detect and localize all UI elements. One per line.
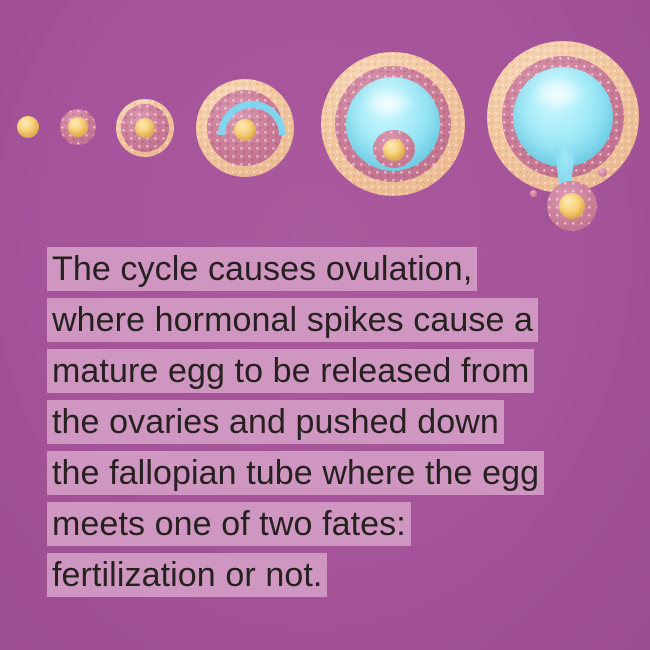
oocyte-icon: [383, 139, 405, 161]
caption-line: where hormonal spikes cause a: [47, 298, 617, 342]
caption-line-text: mature egg to be released from: [47, 349, 534, 393]
oocyte-icon: [68, 117, 88, 137]
caption-line: the ovaries and pushed down: [47, 400, 617, 444]
caption-line-text: where hormonal spikes cause a: [47, 298, 538, 342]
oocyte-icon: [17, 116, 39, 138]
follicle-stage-early-antral: [196, 79, 294, 177]
caption-line: the fallopian tube where the egg: [47, 451, 617, 495]
oocyte-icon: [135, 118, 155, 138]
granulosa-speck: [530, 190, 537, 197]
caption-line: meets one of two fates:: [47, 502, 617, 546]
follicle-stage-mature-graafian: [321, 52, 465, 196]
caption-line-text: meets one of two fates:: [47, 502, 411, 546]
follicle-stage-primordial: [17, 116, 39, 138]
caption-line-text: fertilization or not.: [47, 553, 327, 597]
released-oocyte-icon: [559, 193, 585, 219]
caption-line: The cycle causes ovulation,: [47, 247, 617, 291]
poster-canvas: The cycle causes ovulation, where hormon…: [0, 0, 650, 650]
follicle-stage-primary: [60, 109, 96, 145]
caption-block: The cycle causes ovulation, where hormon…: [47, 247, 617, 604]
caption-line-text: the fallopian tube where the egg: [47, 451, 544, 495]
caption-line: mature egg to be released from: [47, 349, 617, 393]
granulosa-speck: [598, 168, 607, 177]
caption-line: fertilization or not.: [47, 553, 617, 597]
follicle-stage-secondary: [116, 99, 174, 157]
follicle-development-illustration: [0, 0, 650, 240]
oocyte-icon: [234, 119, 256, 141]
caption-line-text: The cycle causes ovulation,: [47, 247, 477, 291]
caption-line-text: the ovaries and pushed down: [47, 400, 504, 444]
